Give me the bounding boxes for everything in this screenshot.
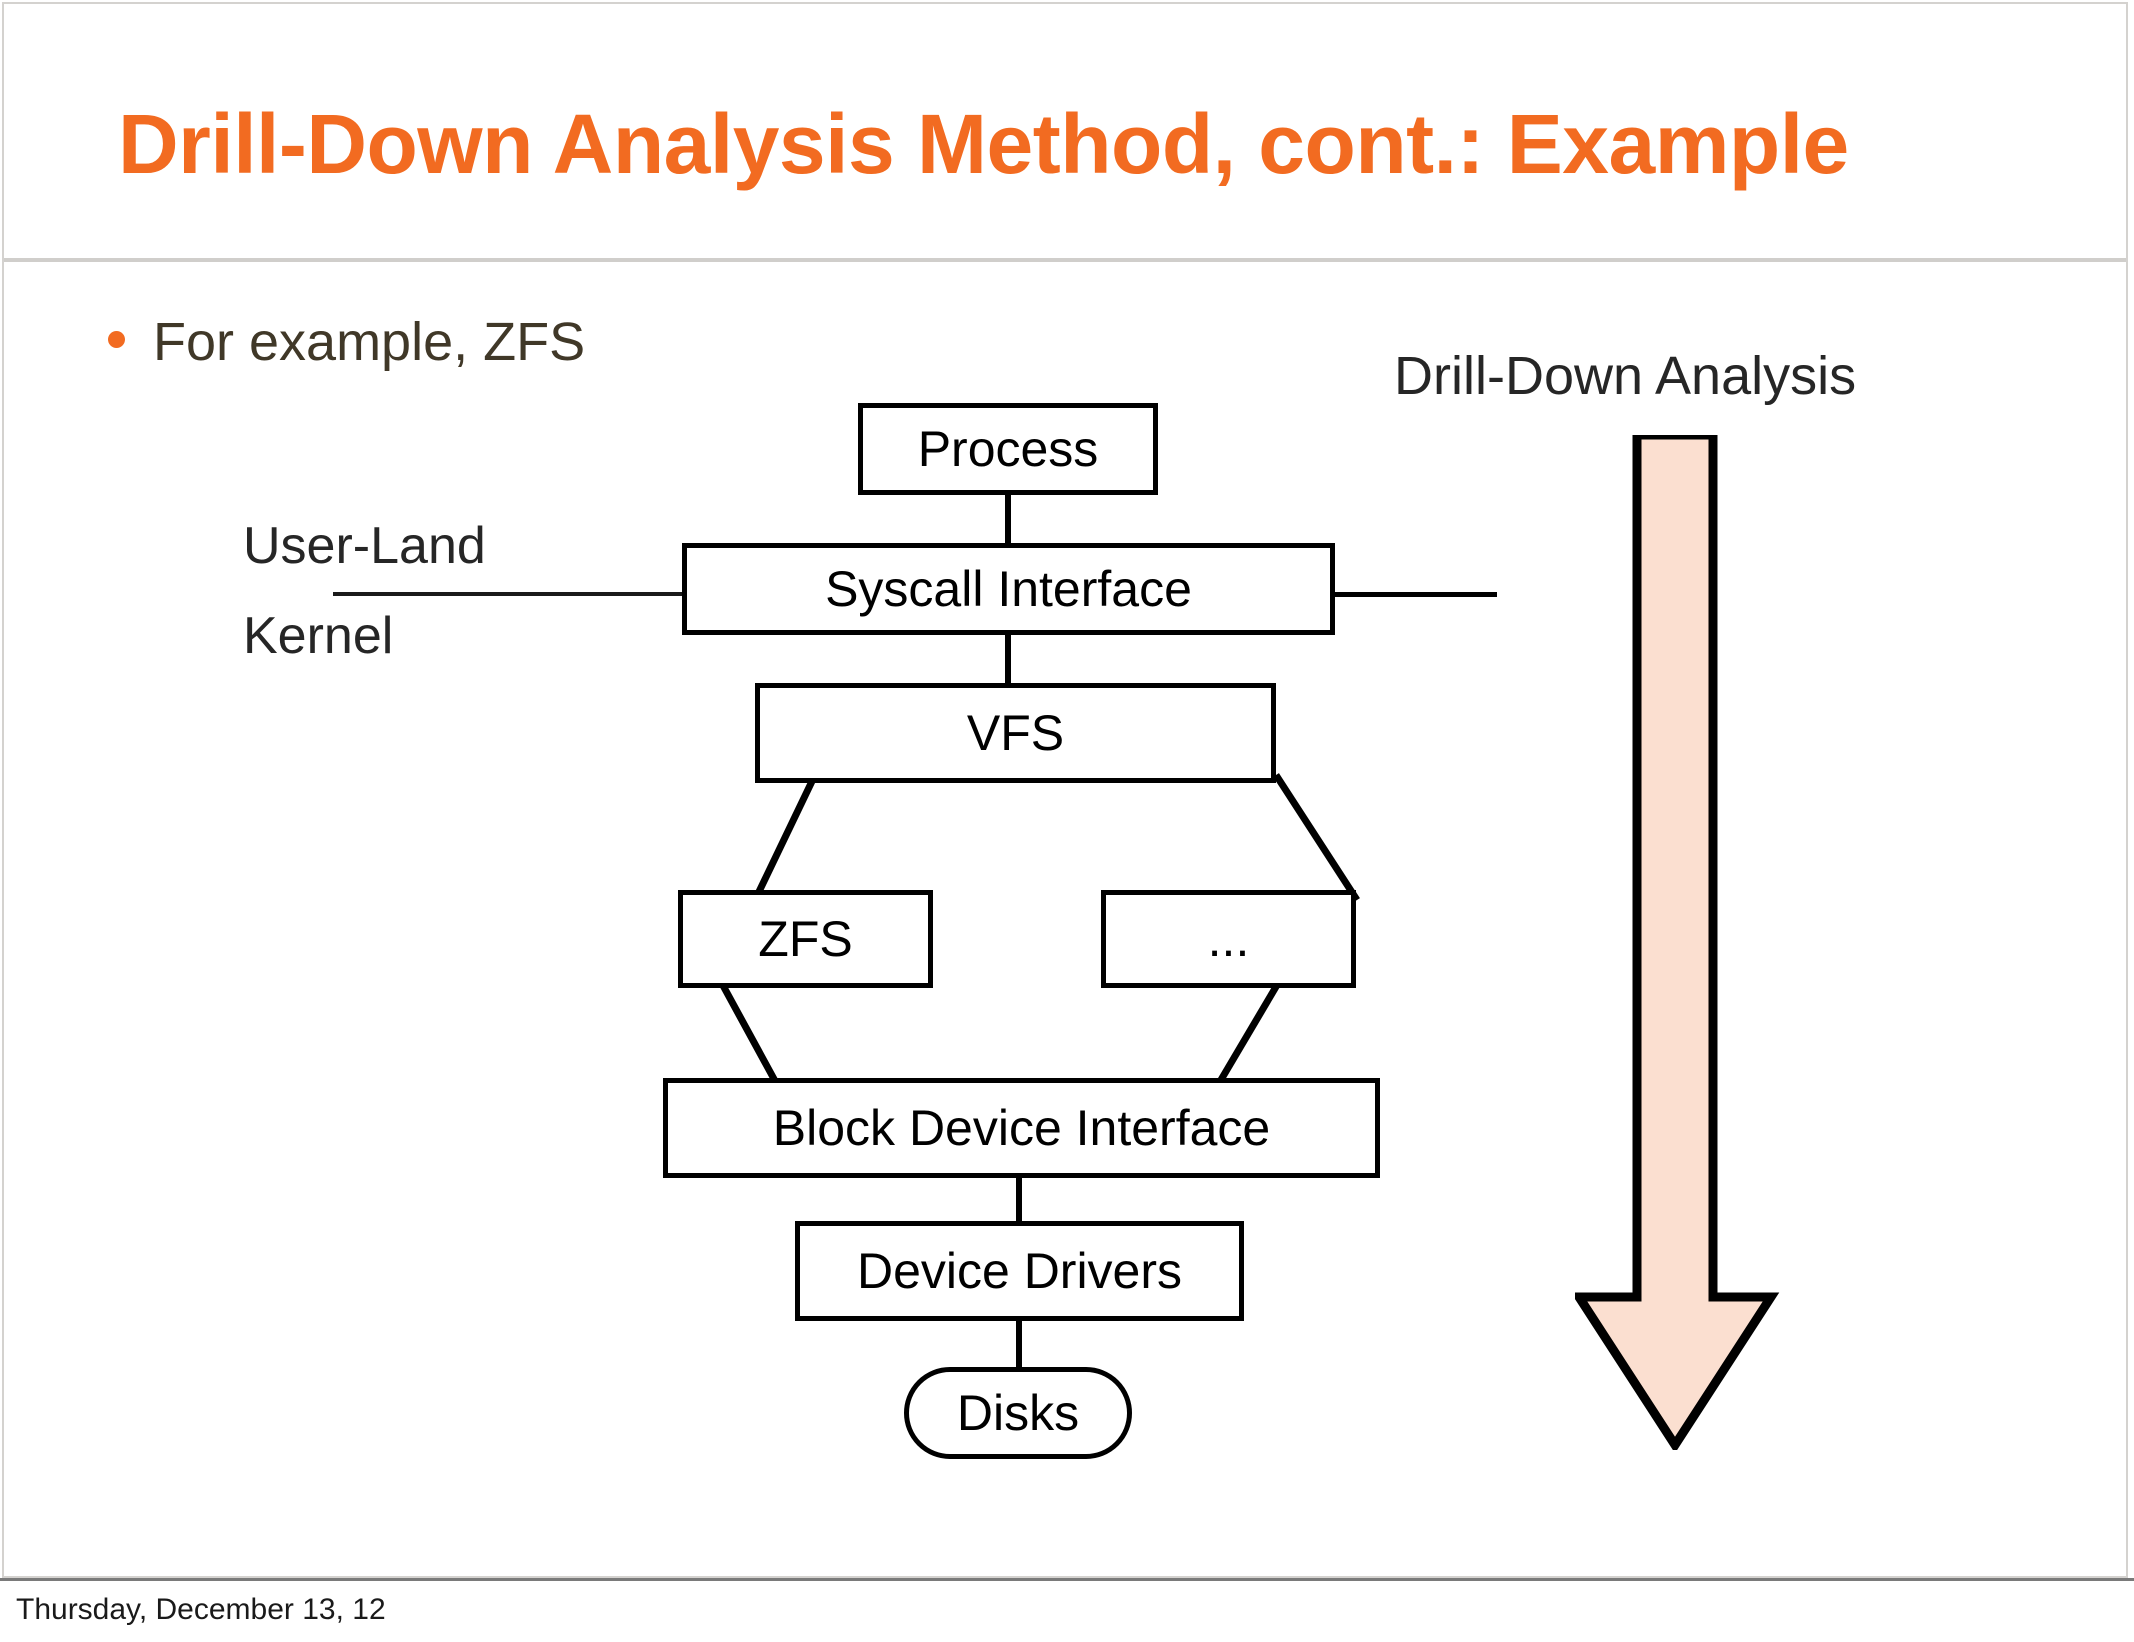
edge-other-to-blockdev <box>1170 980 1410 1090</box>
diagram-box-other[interactable]: ... <box>1101 890 1356 988</box>
drill-down-arrow-icon <box>1575 435 1825 1450</box>
diagram-box-block-device-interface[interactable]: Block Device Interface <box>663 1078 1380 1178</box>
bullet-list-item: For example, ZFS <box>108 312 585 372</box>
diagram-box-disks[interactable]: Disks <box>904 1367 1132 1459</box>
footer-divider <box>0 1578 2134 1581</box>
edge-process-to-syscall <box>1005 492 1011 548</box>
slide-canvas: Drill-Down Analysis Method, cont.: Examp… <box>0 0 2134 1642</box>
bullet-item-label: For example, ZFS <box>153 312 585 372</box>
boundary-divider-line <box>333 592 685 596</box>
diagram-box-zfs[interactable]: ZFS <box>678 890 933 988</box>
header-divider <box>4 258 2126 262</box>
boundary-label-user-land: User-Land <box>243 518 486 574</box>
edge-vfs-to-zfs <box>755 775 995 900</box>
diagram-box-syscall-interface[interactable]: Syscall Interface <box>682 543 1335 635</box>
diagram-box-process[interactable]: Process <box>858 403 1158 495</box>
edge-zfs-to-blockdev <box>720 980 960 1090</box>
edge-syscall-to-vfs <box>1005 632 1011 688</box>
edge-blockdev-to-devicedrivers <box>1016 1174 1022 1226</box>
edge-devicedrivers-to-disks <box>1016 1317 1022 1371</box>
boundary-stub-right <box>1333 592 1497 597</box>
drill-down-analysis-label: Drill-Down Analysis <box>1394 346 1856 406</box>
boundary-label-kernel: Kernel <box>243 608 393 664</box>
bullet-dot-icon <box>108 331 125 348</box>
footer-date-label: Thursday, December 13, 12 <box>16 1592 386 1628</box>
edge-vfs-to-other <box>1130 775 1370 900</box>
page-title: Drill-Down Analysis Method, cont.: Examp… <box>118 92 2018 196</box>
diagram-box-device-drivers[interactable]: Device Drivers <box>795 1221 1244 1321</box>
diagram-box-vfs[interactable]: VFS <box>755 683 1276 783</box>
